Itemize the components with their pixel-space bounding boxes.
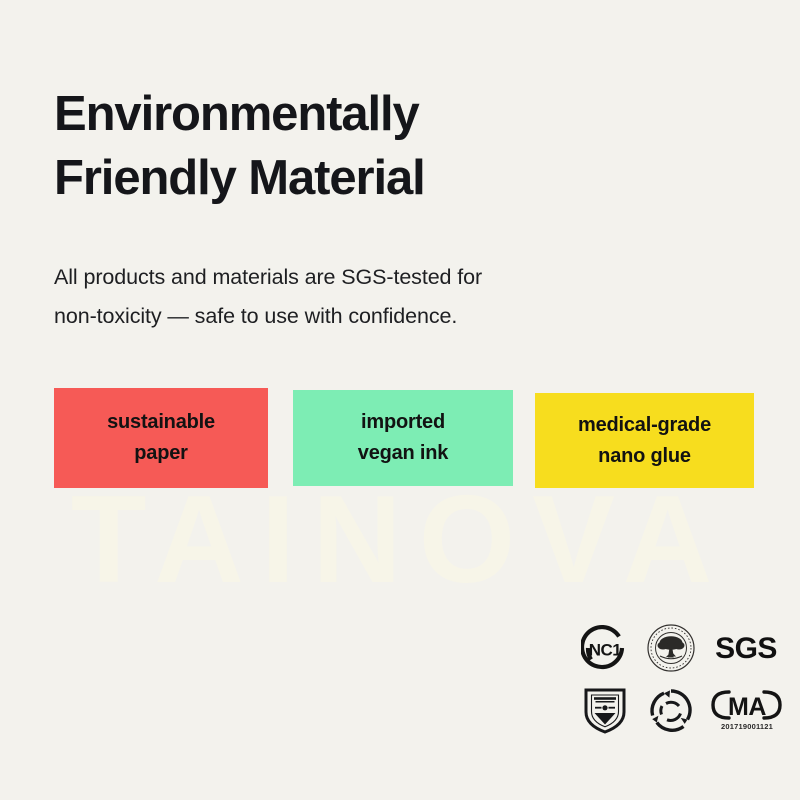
poster-canvas: TAINOVA Environmentally Friendly Materia… [0,0,800,800]
page-description-line-2: non-toxicity — safe to use with confiden… [54,297,674,337]
material-tag-group: sustainable paper imported vegan ink med… [54,388,754,496]
page-description-line-1: All products and materials are SGS-teste… [54,258,674,298]
material-tag-sustainable-paper: sustainable paper [54,388,268,488]
material-tag-label-line-2: nano glue [598,441,691,472]
certification-badge-group: NC1 SGS [574,618,786,744]
forest-tree-seal-icon [640,618,702,678]
svg-text:SGS: SGS [715,632,777,665]
cma-certification-number: 201719001121 [721,722,773,731]
cma-certification-icon: MA 201719001121 [706,680,786,740]
sgs-logo-icon: SGS [706,618,786,678]
material-tag-label-line-2: paper [134,438,187,469]
recycling-arrows-icon [640,680,702,740]
shield-chevron-certification-icon [574,680,636,740]
page-title-line-2: Friendly Material [54,147,704,211]
svg-text:NC1: NC1 [589,641,622,660]
material-tag-medical-grade-nano-glue: medical-grade nano glue [535,393,754,488]
material-tag-label-line-2: vegan ink [358,438,448,469]
nc1-certification-icon: NC1 [574,618,636,678]
material-tag-imported-vegan-ink: imported vegan ink [293,390,513,486]
svg-text:MA: MA [728,693,766,721]
material-tag-label-line-1: medical-grade [578,410,711,441]
brand-watermark: TAINOVA [0,478,800,602]
page-title: Environmentally Friendly Material [54,83,704,210]
material-tag-label-line-1: sustainable [107,407,215,438]
page-title-line-1: Environmentally [54,83,704,147]
material-tag-label-line-1: imported [361,407,445,438]
page-description: All products and materials are SGS-teste… [54,258,674,338]
